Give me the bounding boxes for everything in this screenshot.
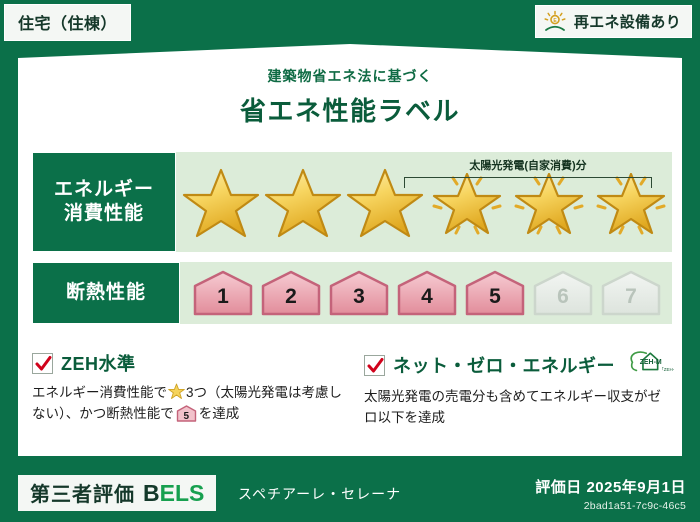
zeh-m-logo-icon: ZEH-M 「ZEH-M」: [625, 350, 674, 380]
rating-star: [344, 162, 426, 242]
sun-icon: E: [543, 10, 567, 34]
property-name: スペチアーレ・セレーナ: [238, 484, 401, 504]
insulation-level-4: 4: [396, 269, 458, 317]
evaluation-id: 2bad1a51-7c9c-46c5: [535, 500, 686, 512]
evaluation-date-value: 2025年9月1日: [586, 479, 686, 496]
criterion-header: ZEH水準: [32, 350, 342, 376]
evaluation-date-label: 評価日: [535, 479, 582, 496]
rating-star-solar: [426, 162, 508, 242]
criterion-title: ZEH水準: [61, 350, 136, 376]
check-icon: [367, 357, 384, 375]
label-footer: 第三者評価 BELS スペチアーレ・セレーナ 評価日 2025年9月1日 2ba…: [0, 464, 700, 522]
insulation-levels-panel: 1 2 3 4: [180, 262, 672, 324]
criterion-net-zero-energy: ネット・ゼロ・エネルギー ZEH-M 「ZEH-M」 太陽光発電の売電分も含めて…: [364, 350, 674, 446]
insulation-label-text: 断熱性能: [66, 281, 146, 305]
criterion-description: エネルギー消費性能で3つ（太陽光発電は考慮しない）、かつ断熱性能で5を達成: [32, 383, 342, 425]
document-type-tag: 住宅（住棟）: [4, 4, 131, 41]
criterion-text-part1: エネルギー消費性能で: [32, 385, 167, 400]
svg-text:ZEH-M: ZEH-M: [640, 359, 662, 366]
insulation-level-2: 2: [260, 269, 322, 317]
renewable-badge-label: 再エネ設備あり: [574, 11, 681, 32]
bels-logo: BELS: [143, 480, 204, 507]
star-strip: [180, 162, 672, 242]
insulation-level-number: 3: [353, 286, 365, 317]
insulation-level-7: 7: [600, 269, 662, 317]
inline-star-icon: [168, 383, 185, 400]
criteria-section: ZEH水準 エネルギー消費性能で3つ（太陽光発電は考慮しない）、かつ断熱性能で5…: [32, 350, 674, 446]
criterion-header: ネット・ゼロ・エネルギー ZEH-M 「ZEH-M」: [364, 350, 674, 380]
criterion-zeh-standard: ZEH水準 エネルギー消費性能で3つ（太陽光発電は考慮しない）、かつ断熱性能で5…: [32, 350, 342, 446]
criterion-title: ネット・ゼロ・エネルギー: [393, 352, 615, 378]
energy-performance-label: 住宅（住棟） E 再エネ設備あり 建築物省エネ法に基づく 省エネ性能ラベル: [0, 0, 700, 522]
energy-rating-stars-panel: 太陽光発電(自家消費)分: [176, 152, 672, 252]
energy-performance-row: エネルギー 消費性能: [32, 152, 672, 252]
bels-certification-plate: 第三者評価 BELS: [18, 475, 216, 511]
insulation-level-number: 6: [557, 286, 569, 317]
label-title-block: 建築物省エネ法に基づく 省エネ性能ラベル: [0, 66, 700, 128]
insulation-performance-row: 断熱性能 1: [32, 262, 672, 324]
insulation-level-number: 4: [421, 286, 433, 317]
checkbox-zeh-standard[interactable]: [32, 353, 53, 374]
bels-logo-b: B: [143, 480, 160, 506]
criterion-text-part3: を達成: [199, 406, 240, 421]
rating-star: [262, 162, 344, 242]
insulation-level-5: 5: [464, 269, 526, 317]
insulation-level-1: 1: [192, 269, 254, 317]
page-title: 省エネ性能ラベル: [0, 91, 700, 128]
insulation-level-number: 5: [489, 286, 501, 317]
insulation-level-number: 2: [285, 286, 297, 317]
evaluation-info: 評価日 2025年9月1日 2bad1a51-7c9c-46c5: [535, 476, 686, 512]
insulation-level-number: 7: [625, 286, 637, 317]
third-party-label: 第三者評価: [30, 478, 135, 507]
energy-label-line2: 消費性能: [64, 202, 144, 226]
checkbox-net-zero-energy[interactable]: [364, 355, 385, 376]
rating-star: [180, 162, 262, 242]
insulation-level-number: 1: [217, 286, 229, 317]
inline-house-number: 5: [176, 412, 197, 422]
insulation-label-cell: 断熱性能: [32, 262, 180, 324]
rating-star-solar: [508, 162, 590, 242]
inline-house-icon: 5: [176, 405, 197, 422]
energy-performance-label-cell: エネルギー 消費性能: [32, 152, 176, 252]
renewable-equipment-badge: E 再エネ設備あり: [535, 5, 692, 38]
insulation-level-3: 3: [328, 269, 390, 317]
insulation-level-6: 6: [532, 269, 594, 317]
title-subtitle: 建築物省エネ法に基づく: [0, 66, 700, 86]
bels-logo-els: ELS: [160, 480, 205, 506]
energy-label-line1: エネルギー: [54, 178, 154, 202]
check-icon: [35, 355, 52, 373]
rating-star-solar: [590, 162, 672, 242]
criterion-description: 太陽光発電の売電分も含めてエネルギー収支がゼロ以下を達成: [364, 387, 674, 429]
svg-text:「ZEH-M」: 「ZEH-M」: [659, 367, 674, 372]
evaluation-date: 評価日 2025年9月1日: [535, 476, 686, 497]
